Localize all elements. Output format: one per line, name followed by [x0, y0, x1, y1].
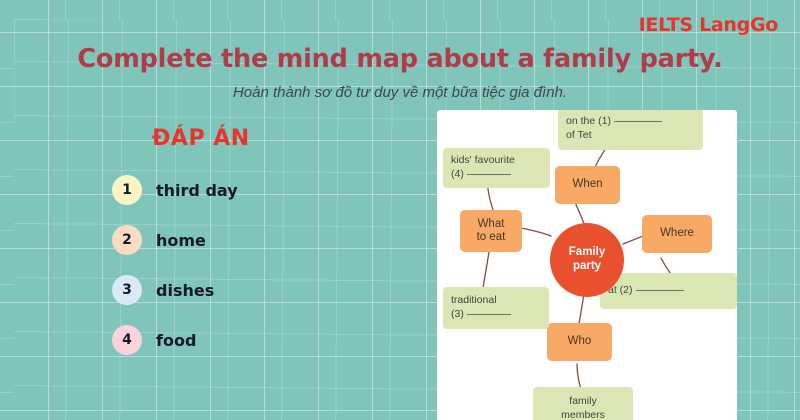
answers-list: 1 third day 2 home 3 dishes 4 food	[112, 165, 412, 365]
branch-what-to-eat[interactable]: What to eat	[460, 210, 522, 252]
leaf-food-kids: kids' favourite (4)	[443, 148, 550, 188]
leaf-where-detail-line1: at (2)	[608, 284, 684, 298]
brand-logo: IELTS LangGo	[639, 14, 778, 36]
answer-badge-2: 2	[112, 225, 142, 255]
answer-item-3: 3 dishes	[112, 265, 412, 315]
answer-item-1: 1 third day	[112, 165, 412, 215]
leaf-food-kids-line1: kids' favourite	[451, 154, 515, 168]
page-title: Complete the mind map about a family par…	[0, 44, 800, 74]
answer-item-4: 4 food	[112, 315, 412, 365]
leaf-food-trad: traditional (3)	[443, 287, 549, 329]
answer-text-1: third day	[156, 181, 238, 200]
leaf-food-trad-line2: (3)	[451, 308, 511, 322]
leaf-when-detail-line1: on the (1)	[566, 115, 662, 129]
answer-text-2: home	[156, 231, 206, 250]
leaf-who-detail-line1: family	[569, 395, 596, 409]
answer-blank-2[interactable]	[636, 290, 684, 291]
center-label-line1: Family	[569, 246, 605, 260]
answer-badge-3: 3	[112, 275, 142, 305]
leaf-who-detail-line2: members	[561, 409, 605, 420]
answer-blank-4[interactable]	[467, 174, 511, 175]
screenshot-canvas: IELTS LangGo Complete the mind map about…	[0, 0, 800, 420]
leaf-where-detail: at (2)	[600, 273, 737, 309]
leaf-food-kids-line2: (4)	[451, 168, 511, 182]
branch-what-to-eat-line2: to eat	[477, 231, 506, 244]
mindmap-card: on the (1) of Tet kids' favourite (4) Wh…	[437, 110, 737, 420]
leaf-when-detail-line2: of Tet	[566, 129, 592, 143]
answer-text-4: food	[156, 331, 196, 350]
branch-when[interactable]: When	[555, 166, 620, 204]
center-label-line2: party	[573, 260, 601, 274]
leaf-who-detail: family members	[533, 387, 633, 420]
answer-item-2: 2 home	[112, 215, 412, 265]
page-subtitle: Hoàn thành sơ đồ tư duy về một bữa tiệc …	[0, 84, 800, 101]
answer-badge-4: 4	[112, 325, 142, 355]
leaf-food-trad-line1: traditional	[451, 294, 497, 308]
answers-heading: ĐÁP ÁN	[152, 126, 250, 151]
answer-text-3: dishes	[156, 281, 214, 300]
branch-what-to-eat-line1: What	[478, 218, 505, 231]
answer-blank-1[interactable]	[614, 121, 662, 122]
answer-blank-3[interactable]	[467, 314, 511, 315]
mindmap-center-node[interactable]: Family party	[550, 223, 624, 297]
branch-where[interactable]: Where	[642, 215, 712, 253]
branch-who[interactable]: Who	[547, 323, 612, 361]
leaf-when-detail: on the (1) of Tet	[558, 110, 703, 150]
answer-badge-1: 1	[112, 175, 142, 205]
